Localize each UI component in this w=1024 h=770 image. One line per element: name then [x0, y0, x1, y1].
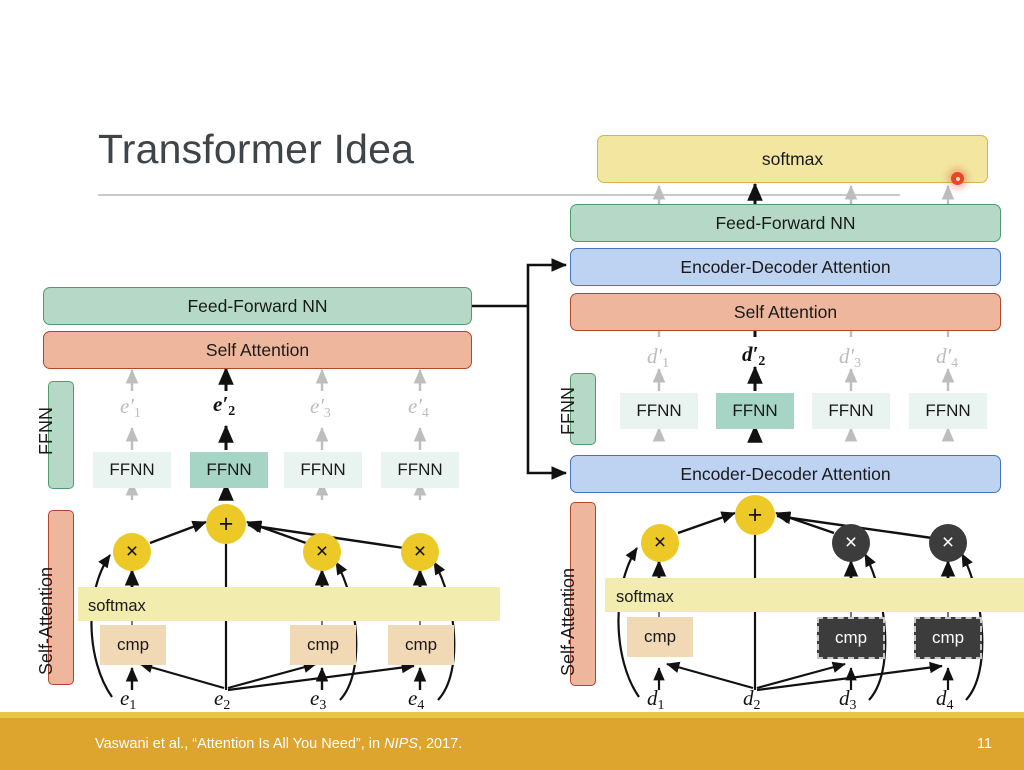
encoder-input-token-4: e4 [408, 686, 424, 713]
encoder-ffnn-cell-1[interactable]: FFNN [93, 452, 171, 488]
decoder-self-attention-bar[interactable]: Self Attention [570, 293, 1001, 331]
encoder-input-token-2: e2 [214, 686, 230, 713]
encoder-cmp-box-1[interactable]: cmp [100, 625, 166, 665]
encoder-multiply-node-4[interactable]: × [401, 533, 439, 571]
decoder-cmp-box-3-masked[interactable]: cmp [817, 617, 885, 659]
decoder-softmax-label: softmax [616, 588, 674, 607]
decoder-input-token-1: d1 [647, 686, 664, 713]
footer-citation-prefix: Vaswani et al., “Attention Is All You Ne… [95, 736, 384, 752]
decoder-multiply-node-3-masked[interactable]: × [832, 524, 870, 562]
encoder-ffnn-cell-4[interactable]: FFNN [381, 452, 459, 488]
slide-page-number: 11 [977, 736, 992, 752]
decoder-output-token-1: d′1 [647, 344, 669, 371]
encoder-output-token-4: e′4 [408, 394, 429, 421]
footer-citation: Vaswani et al., “Attention Is All You Ne… [95, 736, 462, 752]
decoder-output-token-2: d′2 [742, 342, 765, 369]
decoder-cmp-box-4-masked[interactable]: cmp [914, 617, 982, 659]
encoder-self-attention-bar[interactable]: Self Attention [43, 331, 472, 369]
decoder-input-token-4: d4 [936, 686, 953, 713]
encoder-input-token-1: e1 [120, 686, 136, 713]
encoder-cmp-box-3[interactable]: cmp [290, 625, 356, 665]
decoder-multiply-node-4-masked[interactable]: × [929, 524, 967, 562]
decoder-cmp-box-1[interactable]: cmp [627, 617, 693, 657]
encoder-input-token-3: e3 [310, 686, 326, 713]
decoder-encoder-decoder-attention-bar-bottom[interactable]: Encoder-Decoder Attention [570, 455, 1001, 493]
encoder-output-token-3: e′3 [310, 394, 331, 421]
cursor-click-marker-icon [951, 172, 964, 185]
decoder-ffnn-side-label: FFNN [558, 387, 579, 435]
decoder-input-token-3: d3 [839, 686, 856, 713]
page-title: Transformer Idea [98, 126, 414, 173]
encoder-ffnn-side-label: FFNN [36, 407, 57, 455]
decoder-softmax-bar[interactable]: softmax [597, 135, 988, 183]
encoder-softmax-label: softmax [88, 597, 146, 616]
decoder-input-token-2: d2 [743, 686, 760, 713]
decoder-encoder-decoder-attention-bar-top[interactable]: Encoder-Decoder Attention [570, 248, 1001, 286]
encoder-output-token-1: e′1 [120, 394, 141, 421]
footer-citation-suffix: , 2017. [418, 736, 462, 752]
decoder-output-token-4: d′4 [936, 344, 958, 371]
encoder-multiply-node-1[interactable]: × [113, 533, 151, 571]
encoder-multiply-node-3[interactable]: × [303, 533, 341, 571]
decoder-feed-forward-nn-bar[interactable]: Feed-Forward NN [570, 204, 1001, 242]
encoder-feed-forward-nn-bar[interactable]: Feed-Forward NN [43, 287, 472, 325]
title-divider [98, 194, 900, 196]
encoder-output-token-2: e′2 [213, 392, 235, 419]
decoder-ffnn-cell-3[interactable]: FFNN [812, 393, 890, 429]
footer-citation-venue: NIPS [384, 736, 418, 752]
encoder-ffnn-cell-2[interactable]: FFNN [190, 452, 268, 488]
encoder-cmp-box-4[interactable]: cmp [388, 625, 454, 665]
decoder-ffnn-cell-2[interactable]: FFNN [716, 393, 794, 429]
encoder-sum-node[interactable]: + [206, 504, 246, 544]
slide-canvas: Transformer Idea [0, 0, 1024, 770]
decoder-multiply-node-1[interactable]: × [641, 524, 679, 562]
decoder-ffnn-cell-4[interactable]: FFNN [909, 393, 987, 429]
encoder-self-attention-side-label: Self-Attention [36, 567, 57, 675]
decoder-ffnn-cell-1[interactable]: FFNN [620, 393, 698, 429]
decoder-self-attention-side-label: Self-Attention [558, 568, 579, 676]
decoder-sum-node[interactable]: + [735, 495, 775, 535]
decoder-output-token-3: d′3 [839, 344, 861, 371]
encoder-ffnn-cell-3[interactable]: FFNN [284, 452, 362, 488]
